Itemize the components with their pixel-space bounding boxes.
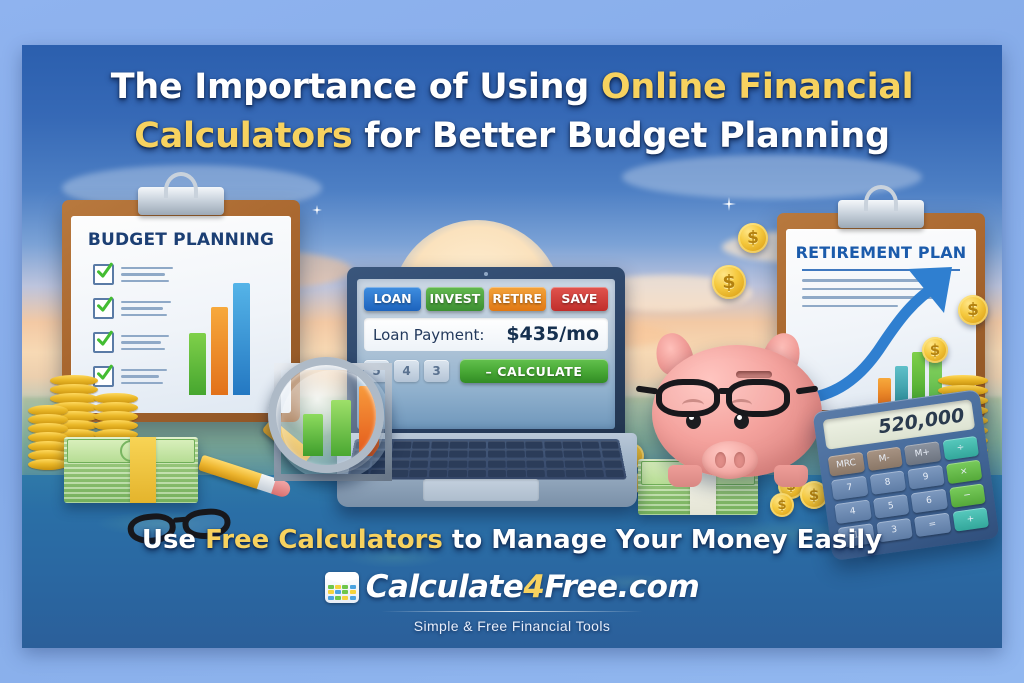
budget-clipboard-title: BUDGET PLANNING — [71, 230, 291, 250]
logo-keys — [328, 585, 356, 600]
laptop-trackpad[interactable] — [423, 479, 539, 501]
eyeglasses-icon — [650, 375, 828, 419]
webcam-icon — [484, 272, 488, 276]
laptop-keyboard[interactable] — [347, 439, 627, 479]
checkbox — [93, 264, 114, 285]
calculator-logo-icon — [325, 572, 359, 603]
checklist-item — [93, 264, 173, 285]
checkbox — [93, 298, 114, 319]
check-icon — [96, 329, 113, 349]
result-label: Loan Payment: — [373, 326, 484, 344]
pig-nostril — [715, 452, 726, 468]
coin-stack — [28, 405, 68, 481]
calc-key-6[interactable]: 6 — [911, 489, 948, 514]
brand-logo[interactable]: Calculate4Free.com Simple & Free Financi… — [22, 569, 1002, 634]
calc-key-m-plus[interactable]: M+ — [904, 441, 941, 466]
pig-leg — [668, 465, 702, 487]
headline-plain-b: for Better Budget Planning — [352, 116, 889, 156]
logo-four: 4 — [523, 569, 544, 605]
tab-invest[interactable]: INVEST — [426, 287, 483, 311]
poster-frame: The Importance of Using Online Financial… — [0, 0, 1024, 683]
glasses-lens — [656, 379, 720, 417]
gold-coin: $ — [958, 295, 988, 325]
calculator-tab-row: LOAN INVEST RETIRE SAVE — [364, 287, 608, 311]
calc-key-m-minus[interactable]: M- — [866, 447, 903, 472]
checklist-lines — [121, 369, 167, 385]
calc-key-9[interactable]: 9 — [907, 465, 944, 490]
tab-loan[interactable]: LOAN — [364, 287, 421, 311]
sparkle-icon — [312, 205, 322, 215]
calc-key-divide[interactable]: ÷ — [942, 436, 979, 461]
page-title: The Importance of Using Online Financial… — [22, 63, 1002, 161]
budget-bar-chart — [189, 283, 250, 395]
magnifier-rim — [268, 357, 384, 473]
chart-bar — [189, 333, 206, 395]
calculate-button[interactable]: – CALCULATE — [460, 359, 608, 383]
tab-save[interactable]: SAVE — [551, 287, 608, 311]
calc-key-8[interactable]: 8 — [869, 470, 906, 495]
poster-canvas: The Importance of Using Online Financial… — [22, 45, 1002, 648]
calc-key-multiply[interactable]: × — [945, 460, 982, 485]
calc-key-5[interactable]: 5 — [872, 494, 909, 519]
glasses-lens — [726, 379, 790, 417]
calc-key-mrc[interactable]: MRC — [828, 452, 865, 477]
check-icon — [96, 295, 113, 315]
check-icon — [96, 261, 113, 281]
pig-leg — [774, 465, 808, 487]
headline-plain-a: The Importance of Using — [111, 67, 601, 107]
logo-part2: Free.com — [544, 569, 699, 605]
laptop-screen: LOAN INVEST RETIRE SAVE Loan Payment: $4… — [357, 279, 615, 429]
calc-key-minus[interactable]: − — [949, 483, 986, 508]
clipboard-clip-icon — [838, 200, 924, 228]
magnifying-glass-icon — [258, 355, 388, 485]
check-icon — [96, 363, 113, 383]
logo-row: Calculate4Free.com — [325, 569, 700, 605]
glasses-temple — [636, 385, 659, 394]
checklist-item — [93, 332, 169, 353]
checklist-lines — [121, 301, 171, 317]
cash-band — [130, 437, 156, 503]
checklist-lines — [121, 267, 173, 283]
calc-key-4[interactable]: 4 — [834, 499, 871, 524]
headline-accent-b: Calculators — [134, 116, 352, 156]
checkbox — [93, 332, 114, 353]
checklist-item — [93, 298, 171, 319]
key-3[interactable]: 3 — [424, 360, 449, 382]
glasses-temple — [796, 385, 819, 394]
logo-wordmark: Calculate4Free.com — [366, 569, 700, 605]
pig-snout — [702, 441, 758, 479]
logo-part1: Calculate — [366, 569, 524, 605]
gold-coin: $ — [922, 337, 948, 363]
logo-tagline: Simple & Free Financial Tools — [22, 618, 1002, 634]
checklist-item — [93, 366, 167, 387]
subline-plain-a: Use — [142, 525, 205, 555]
calc-key-7[interactable]: 7 — [831, 476, 868, 501]
chart-bar — [211, 307, 228, 395]
headline-line-1: The Importance of Using Online Financial — [22, 63, 1002, 112]
pig-nostril — [734, 452, 745, 468]
loan-payment-result: Loan Payment: $435/mo — [364, 318, 608, 351]
cash-stack — [64, 437, 198, 503]
gold-coin: $ — [712, 265, 746, 299]
gold-coin: $ — [738, 223, 768, 253]
sparkle-icon — [722, 197, 736, 211]
logo-divider — [381, 611, 643, 612]
key-4[interactable]: 4 — [394, 360, 419, 382]
checklist-lines — [121, 335, 169, 351]
keypad-row: 5 4 3 – CALCULATE — [364, 359, 608, 383]
tab-retire[interactable]: RETIRE — [489, 287, 546, 311]
clipboard-clip-icon — [138, 187, 224, 215]
logo-display — [325, 572, 359, 584]
subline-accent: Free Calculators — [205, 525, 443, 555]
chart-bar — [878, 378, 891, 404]
subline-plain-b: to Manage Your Money Easily — [443, 525, 882, 555]
result-value: $435/mo — [506, 323, 599, 345]
subtitle: Use Free Calculators to Manage Your Mone… — [22, 525, 1002, 555]
headline-accent-a: Online Financial — [601, 67, 913, 107]
headline-line-2: Calculators for Better Budget Planning — [22, 112, 1002, 161]
chart-bar — [233, 283, 250, 395]
